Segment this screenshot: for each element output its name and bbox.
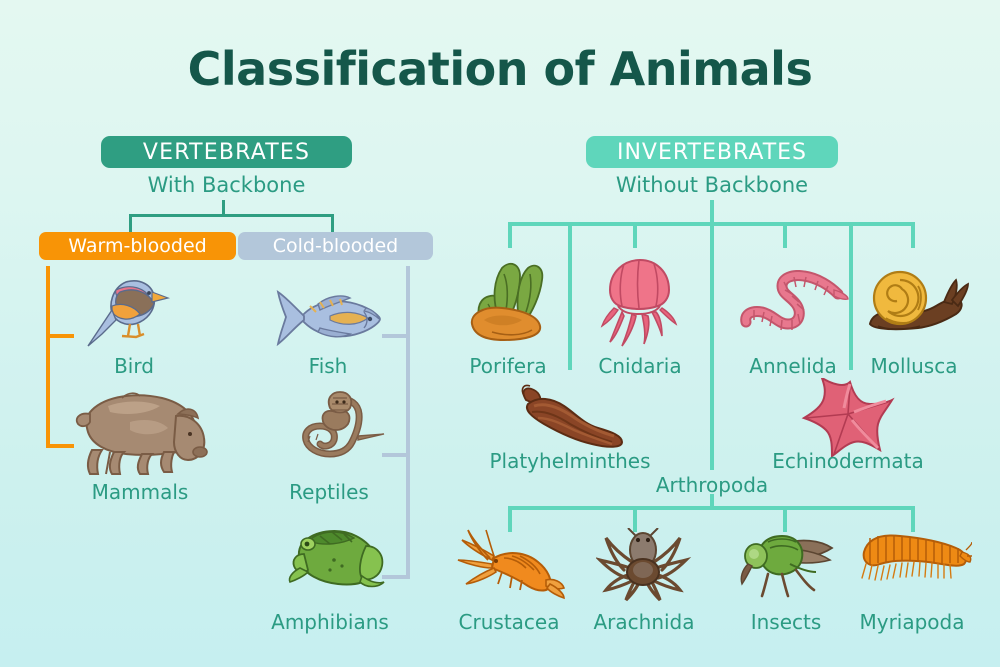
earthworm-icon [738,270,850,338]
drop-porifera [508,222,512,248]
label-cnidaria: Cnidaria [584,354,696,378]
bird-icon [82,272,192,350]
label-arachnida: Arachnida [584,610,704,634]
label-myriapoda: Myriapoda [852,610,972,634]
label-annelida: Annelida [736,354,850,378]
arthropoda-bracket-bar [508,506,915,510]
shrimp-icon [454,528,570,600]
drop-annelida [783,222,787,248]
invertebrates-subtitle: Without Backbone [586,173,838,197]
label-amphibians: Amphibians [264,610,396,634]
label-crustacea: Crustacea [450,610,568,634]
infographic-canvas: Classification of Animals VERTEBRATES Wi… [0,0,1000,667]
cold-bracket-vertical [406,266,410,579]
boar-icon [70,386,210,478]
spider-icon [596,528,692,602]
drop-insects [783,506,787,532]
sponge-icon [462,258,554,344]
cobra-icon [280,390,390,472]
warm-bracket-vertical [46,266,50,448]
vertebrates-bracket-drop-warm [129,214,132,233]
vertebrates-subtitle: With Backbone [101,173,352,197]
invertebrates-badge: INVERTEBRATES [586,136,838,168]
label-mammals: Mammals [78,480,202,504]
label-platyhelminthes: Platyhelminthes [478,449,662,473]
millipede-icon [852,530,972,596]
vertebrates-bracket-drop-cold [331,214,334,233]
label-porifera: Porifera [452,354,564,378]
vertebrates-bracket-bar [129,214,334,217]
cold-bracket-tick-fish [382,334,410,338]
fish-icon [272,286,384,348]
invertebrates-bracket-stem [710,200,714,224]
vertebrates-badge: VERTEBRATES [101,136,352,168]
label-fish: Fish [278,354,378,378]
fly-icon [738,530,840,600]
drop-platyhelminthes [568,222,572,370]
drop-cnidaria [633,222,637,248]
warm-bracket-tick-bird [46,334,74,338]
cold-blooded-chip: Cold-blooded [238,232,433,260]
snail-icon [862,268,972,338]
label-echinodermata: Echinodermata [760,449,936,473]
warm-blooded-chip: Warm-blooded [39,232,236,260]
starfish-icon [800,378,896,458]
frog-icon [278,524,388,594]
label-mollusca: Mollusca [856,354,972,378]
drop-mollusca [911,222,915,248]
label-reptiles: Reptiles [276,480,382,504]
label-bird: Bird [82,354,186,378]
label-insects: Insects [736,610,836,634]
jellyfish-icon [596,256,682,348]
flatworm-icon [508,382,634,452]
page-title: Classification of Animals [0,42,1000,96]
drop-arthropoda [710,222,714,470]
drop-myriapoda [911,506,915,532]
